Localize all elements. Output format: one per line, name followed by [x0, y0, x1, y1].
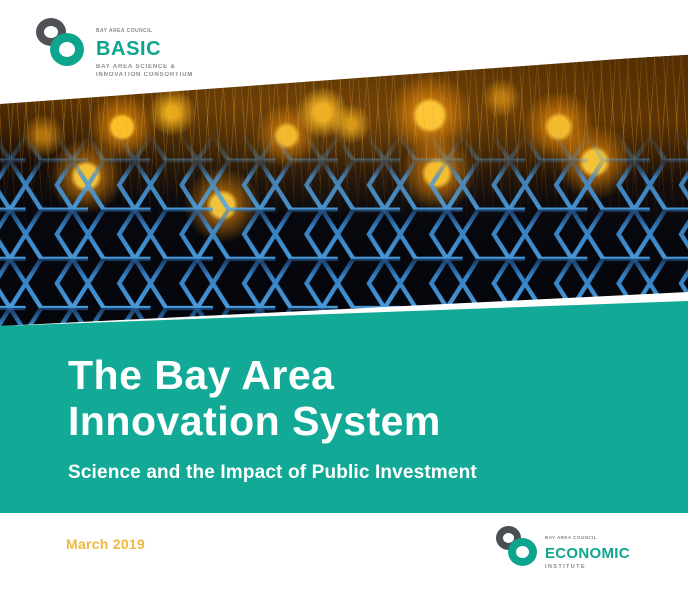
title-line-2: Innovation System: [68, 398, 648, 444]
report-cover: BAY AREA COUNCIL BASIC BAY AREA SCIENCE …: [0, 0, 688, 600]
publication-date: March 2019: [66, 536, 145, 552]
basic-subline-1: BAY AREA SCIENCE &: [96, 63, 193, 71]
bay-area-council-infinity-mark-icon: [496, 524, 542, 568]
basic-subline-2: INNOVATION CONSORTIUM: [96, 71, 193, 79]
basic-infinity-mark-icon: [36, 16, 92, 68]
infinity-ring-teal: [50, 33, 84, 66]
economic-institute-subline: INSTITUTE: [545, 565, 630, 571]
economic-institute-wordmark: ECONOMIC: [545, 546, 630, 561]
economic-institute-eyebrow: BAY AREA COUNCIL: [545, 535, 597, 540]
basic-logo: BAY AREA COUNCIL BASIC BAY AREA SCIENCE …: [36, 16, 193, 79]
economic-institute-logo-text: BAY AREA COUNCIL ECONOMIC INSTITUTE: [545, 524, 630, 571]
basic-wordmark: BASIC: [96, 39, 193, 59]
subtitle: Science and the Impact of Public Investm…: [68, 462, 648, 484]
title-block: The Bay Area Innovation System Science a…: [68, 352, 648, 484]
title-line-1: The Bay Area: [68, 352, 648, 398]
infinity-ring-teal: [508, 538, 537, 566]
economic-institute-logo: BAY AREA COUNCIL ECONOMIC INSTITUTE: [496, 524, 630, 571]
basic-logo-text: BAY AREA COUNCIL BASIC BAY AREA SCIENCE …: [96, 16, 193, 79]
basic-logo-eyebrow: BAY AREA COUNCIL: [96, 28, 153, 34]
